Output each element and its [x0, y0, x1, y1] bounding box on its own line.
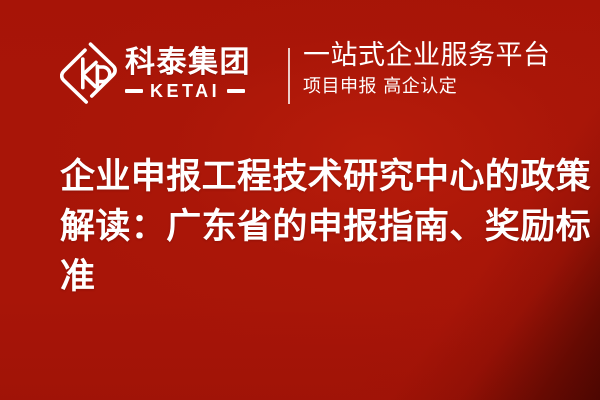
poster-canvas: 科泰集团 KETAI 一站式企业服务平台 项目申报 高企认定 企业申报工程技术研…: [0, 0, 600, 400]
header-band: 科泰集团 KETAI 一站式企业服务平台 项目申报 高企认定: [0, 0, 600, 140]
tagline-primary: 一站式企业服务平台: [303, 40, 593, 72]
page-title-line-2: 解读：广东省的申报指南、奖励标: [60, 202, 560, 252]
brand-logo[interactable]: 科泰集团 KETAI: [60, 40, 285, 106]
dash-rule-left-icon: [125, 89, 143, 93]
brand-wordmark: 科泰集团 KETAI: [125, 41, 285, 105]
dash-rule-right-icon: [227, 89, 245, 93]
tagline-secondary: 项目申报 高企认定: [303, 75, 593, 99]
page-title-line-1: 企业申报工程技术研究中心的政策: [60, 152, 560, 202]
brand-name-en: KETAI: [143, 82, 227, 101]
ketai-diamond-kp-logo-icon: [60, 41, 117, 105]
tagline-block: 一站式企业服务平台 项目申报 高企认定: [303, 40, 593, 99]
brand-name-cn: 科泰集团: [125, 46, 285, 80]
page-title-line-3: 准: [60, 252, 560, 302]
vertical-divider-icon: [288, 48, 290, 104]
brand-en-row: KETAI: [125, 82, 285, 101]
page-title: 企业申报工程技术研究中心的政策 解读：广东省的申报指南、奖励标 准: [60, 152, 560, 302]
